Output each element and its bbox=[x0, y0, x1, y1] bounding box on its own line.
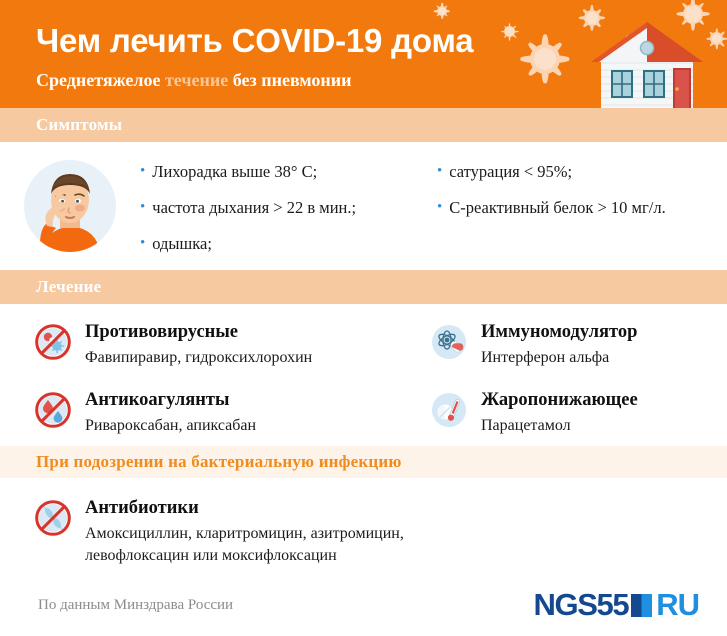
list-item: • частота дыхания > 22 в мин.; bbox=[140, 198, 437, 218]
treatment-item-antipyretic: Жаропонижающее Парацетамол bbox=[410, 388, 727, 436]
section-band-symptoms: Симптомы bbox=[0, 108, 727, 142]
virus-particle-icon bbox=[437, 6, 447, 16]
subtitle-part-2: без пневмонии bbox=[228, 70, 351, 90]
logo-primary-text: NGS55 bbox=[534, 587, 629, 623]
list-item: • одышка; bbox=[140, 234, 437, 254]
treatment-title: Противовирусные bbox=[85, 321, 312, 344]
treatment-text: Иммуномодулятор Интерферон альфа bbox=[481, 320, 637, 368]
thermometer-pill-icon bbox=[430, 391, 468, 429]
treatment-drugs: Интерферон альфа bbox=[481, 347, 637, 368]
treatment-title: Иммуномодулятор bbox=[481, 321, 637, 344]
treatment-title: Антибиотики bbox=[85, 497, 565, 520]
no-blood-clot-prohibition-icon bbox=[34, 391, 72, 429]
treatment-title: Антикоагулянты bbox=[85, 389, 256, 412]
symptoms-columns: • Лихорадка выше 38° С; • частота дыхани… bbox=[140, 156, 727, 270]
section-title-symptoms: Симптомы bbox=[36, 115, 122, 135]
symptoms-column-left: • Лихорадка выше 38° С; • частота дыхани… bbox=[140, 162, 437, 270]
list-item: • С-реактивный белок > 10 мг/л. bbox=[437, 198, 717, 218]
treatment-title: Жаропонижающее bbox=[481, 389, 638, 412]
section-band-treatment: Лечение bbox=[0, 270, 727, 304]
no-bacteria-prohibition-icon bbox=[34, 499, 72, 537]
symptoms-section: • Лихорадка выше 38° С; • частота дыхани… bbox=[0, 142, 727, 270]
virus-particle-icon bbox=[530, 44, 560, 74]
symptom-text: Лихорадка выше 38° С; bbox=[152, 162, 317, 182]
bullet-icon: • bbox=[140, 162, 145, 181]
page-subtitle: Среднетяжелое течение без пневмонии bbox=[36, 69, 473, 91]
treatment-item-antibiotics: Антибиотики Амоксициллин, кларитромицин,… bbox=[0, 496, 727, 566]
no-virus-prohibition-icon bbox=[34, 323, 72, 361]
treatment-row: Антикоагулянты Ривароксабан, апиксабан bbox=[0, 388, 727, 436]
treatment-drugs: Парацетамол bbox=[481, 415, 638, 436]
bullet-icon: • bbox=[437, 162, 442, 181]
treatment-row: Противовирусные Фавипиравир, гидроксихло… bbox=[0, 320, 727, 368]
symptom-text: частота дыхания > 22 в мин.; bbox=[152, 198, 356, 218]
bullet-icon: • bbox=[140, 198, 145, 217]
treatment-drugs-line1: Амоксициллин, кларитромицин, азитромицин… bbox=[85, 523, 565, 544]
source-note: По данным Минздрава России bbox=[38, 597, 233, 614]
treatment-item-antiviral: Противовирусные Фавипиравир, гидроксихло… bbox=[0, 320, 410, 368]
treatment-item-immunomodulator: Иммуномодулятор Интерферон альфа bbox=[410, 320, 727, 368]
row-spacer bbox=[0, 368, 727, 388]
logo-secondary-text: RU bbox=[656, 587, 699, 623]
bullet-icon: • bbox=[437, 198, 442, 217]
symptom-text: С-реактивный белок > 10 мг/л. bbox=[449, 198, 665, 218]
header-text-block: Чем лечить COVID-19 дома Среднетяжелое т… bbox=[36, 22, 473, 91]
treatment-section: Противовирусные Фавипиравир, гидроксихло… bbox=[0, 304, 727, 446]
list-item: • сатурация < 95%; bbox=[437, 162, 717, 182]
virus-particle-icon bbox=[710, 32, 723, 45]
treatment-item-anticoagulant: Антикоагулянты Ривароксабан, апиксабан bbox=[0, 388, 410, 436]
subtitle-highlight: течение bbox=[165, 70, 228, 90]
treatment-text: Жаропонижающее Парацетамол bbox=[481, 388, 638, 436]
treatment-drugs: Фавипиравир, гидроксихлорохин bbox=[85, 347, 312, 368]
ngs55-logo[interactable]: NGS55 RU bbox=[534, 587, 699, 623]
list-item: • Лихорадка выше 38° С; bbox=[140, 162, 437, 182]
treatment-text: Антибиотики Амоксициллин, кларитромицин,… bbox=[85, 496, 565, 566]
subtitle-part-1: Среднетяжелое bbox=[36, 70, 165, 90]
logo-square-icon bbox=[631, 594, 652, 617]
treatment-drugs-line2: левофлоксацин или моксифлоксацин bbox=[85, 545, 565, 566]
immune-cell-icon bbox=[430, 323, 468, 361]
symptom-text: одышка; bbox=[152, 234, 212, 254]
bullet-icon: • bbox=[140, 234, 145, 253]
section-title-bacterial: При подозрении на бактериальную инфекцию bbox=[36, 452, 402, 472]
patient-illustration-wrap bbox=[0, 156, 140, 270]
treatment-drugs: Ривароксабан, апиксабан bbox=[85, 415, 256, 436]
section-band-bacterial: При подозрении на бактериальную инфекцию bbox=[0, 446, 727, 478]
footer: По данным Минздрава России NGS55 RU bbox=[0, 574, 727, 636]
page-title: Чем лечить COVID-19 дома bbox=[36, 22, 473, 60]
antibiotics-section: Антибиотики Амоксициллин, кларитромицин,… bbox=[0, 478, 727, 576]
header-banner: Чем лечить COVID-19 дома Среднетяжелое т… bbox=[0, 0, 727, 108]
house-icon bbox=[585, 16, 709, 108]
sick-person-icon bbox=[22, 158, 118, 254]
infographic-root: Чем лечить COVID-19 дома Среднетяжелое т… bbox=[0, 0, 727, 636]
symptoms-column-right: • сатурация < 95%; • С-реактивный белок … bbox=[437, 162, 717, 270]
symptom-text: сатурация < 95%; bbox=[449, 162, 572, 182]
treatment-text: Противовирусные Фавипиравир, гидроксихло… bbox=[85, 320, 312, 368]
virus-particle-icon bbox=[504, 26, 515, 37]
section-title-treatment: Лечение bbox=[36, 277, 101, 297]
treatment-text: Антикоагулянты Ривароксабан, апиксабан bbox=[85, 388, 256, 436]
